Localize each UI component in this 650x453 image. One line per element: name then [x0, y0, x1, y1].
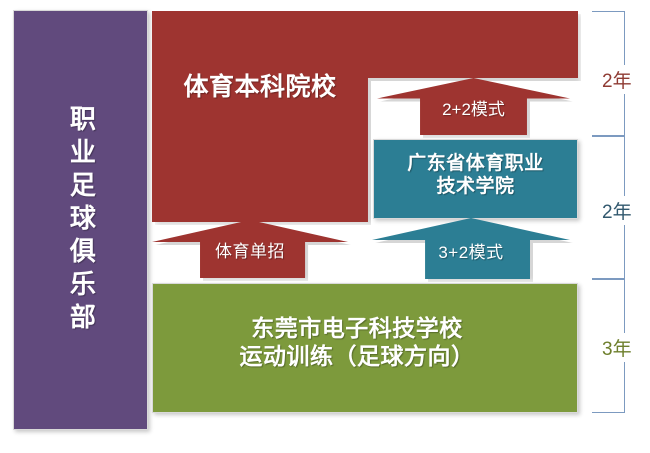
- duration-label-top: 2年: [600, 65, 650, 94]
- node-sports-university-label: 体育本科院校: [152, 72, 368, 103]
- duration-label-bottom: 3年: [600, 333, 650, 362]
- node-secondary-school-label: 东莞市电子科技学校 运动训练（足球方向）: [152, 314, 562, 370]
- arrow-sports-single-recruit-label: 体育单招: [152, 242, 348, 263]
- node-professional-football-club-label: 职业足球俱乐部: [13, 10, 148, 430]
- duration-label-middle: 2年: [600, 196, 650, 225]
- node-vocational-college-label: 广东省体育职业 技术学院: [373, 152, 578, 198]
- arrow-3plus2-label: 3+2模式: [372, 243, 570, 264]
- arrow-2plus2-label: 2+2模式: [377, 100, 570, 121]
- diagram-canvas: 职业足球俱乐部 体育本科院校 2+2模式 广东省体育职业 技术学院 3+2模式 …: [0, 0, 650, 453]
